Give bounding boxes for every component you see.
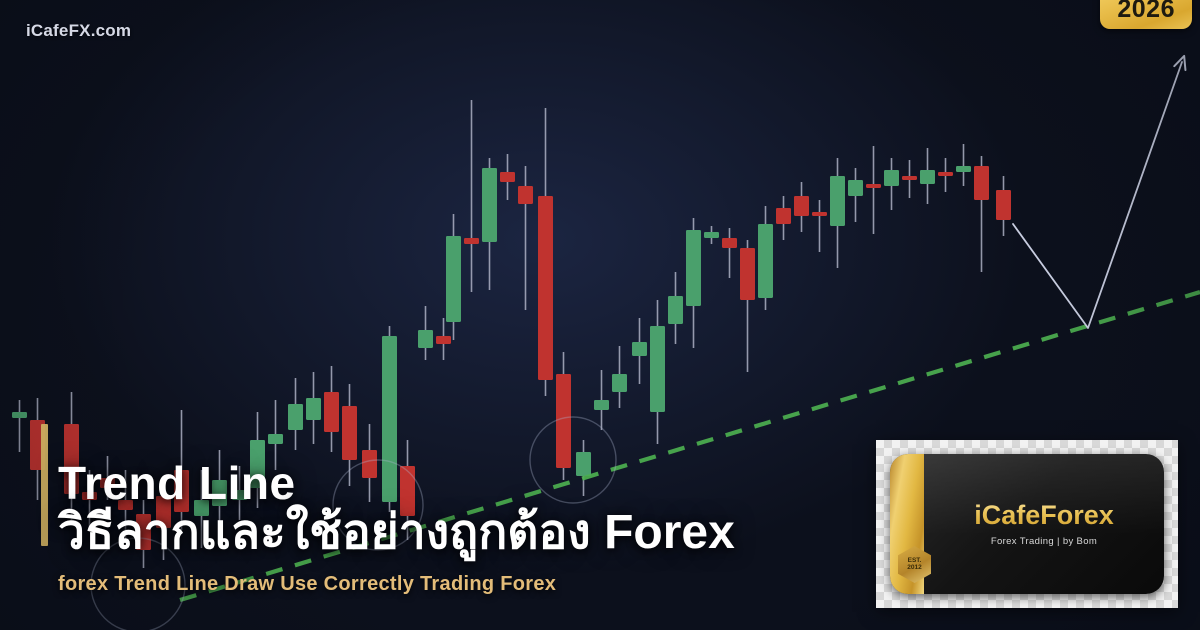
cover-canvas: iCafeFX.com 2026 Trend Line วิธีลากและใช… [0, 0, 1200, 630]
page-subtitle: forex Trend Line Draw Use Correctly Trad… [58, 573, 888, 596]
logo-tagline: Forex Trading | by Bom [924, 536, 1164, 547]
page-title-th: วิธีลากและใช้อย่างถูกต้อง Forex [58, 504, 888, 563]
logo-inner-card: iCafeForex Forex Trading | by Bom EST. 2… [890, 454, 1164, 594]
year-badge: 2026 [1100, 0, 1192, 29]
site-brand: iCafeFX.com [26, 21, 131, 41]
page-title-en: Trend Line [58, 460, 888, 507]
projection-arrow [1013, 62, 1182, 328]
highlight-bar [41, 424, 48, 546]
est-year: 2012 [907, 565, 921, 572]
logo-card: iCafeForex Forex Trading | by Bom EST. 2… [876, 440, 1178, 608]
logo-title: iCafeForex [924, 502, 1164, 529]
logo-text-wrap: iCafeForex Forex Trading | by Bom [890, 502, 1164, 547]
headline-block: Trend Line วิธีลากและใช้อย่างถูกต้อง For… [58, 460, 888, 596]
